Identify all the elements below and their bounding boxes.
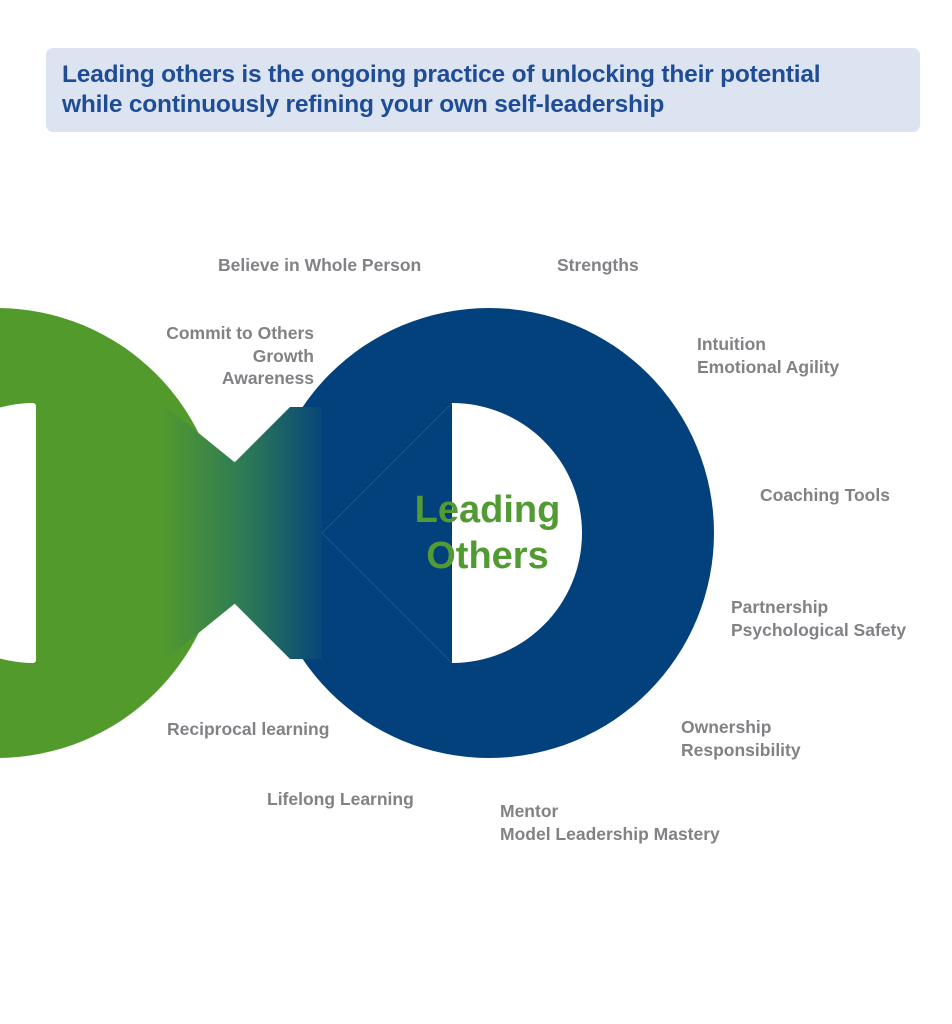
annotation-believe-in-whole-person: Believe in Whole Person	[218, 254, 421, 277]
annotation-commit-to-others: Commit to Others Growth Awareness	[88, 322, 314, 390]
infinity-diagram: Leading Others Believe in Whole Person S…	[0, 0, 952, 1024]
annotation-lifelong-learning: Lifelong Learning	[267, 788, 414, 811]
annotation-reciprocal-learning: Reciprocal learning	[167, 718, 329, 741]
annotation-coaching-tools: Coaching Tools	[760, 484, 890, 507]
annotation-intuition: Intuition Emotional Agility	[697, 333, 839, 378]
annotation-strengths: Strengths	[557, 254, 639, 277]
infinity-loop-graphic	[0, 0, 952, 1024]
annotation-partnership: Partnership Psychological Safety	[731, 596, 906, 641]
annotation-mentor: Mentor Model Leadership Mastery	[500, 800, 720, 845]
annotation-ownership: Ownership Responsibility	[681, 716, 801, 761]
